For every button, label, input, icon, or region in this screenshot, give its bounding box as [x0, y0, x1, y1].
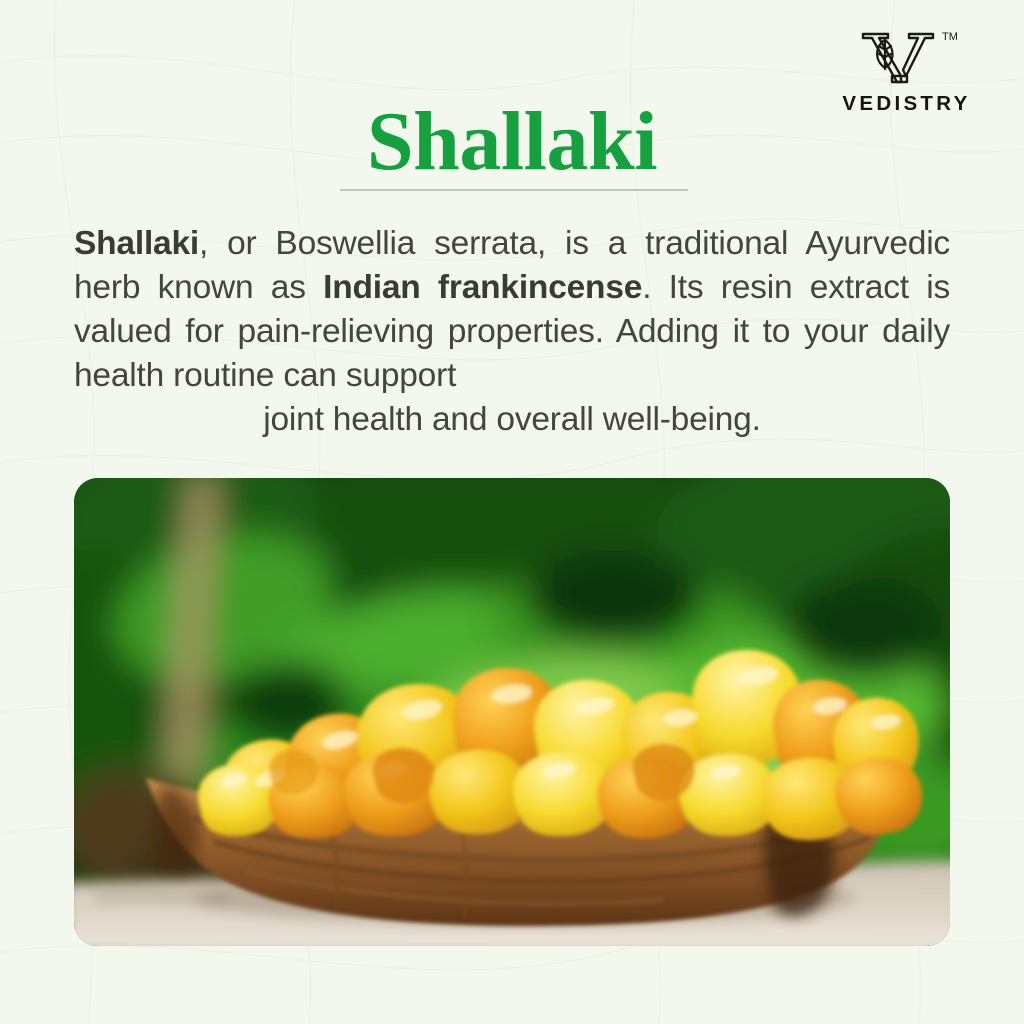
body-last-line: joint health and overall well-being. — [74, 398, 950, 442]
trademark-mark: TM — [942, 31, 958, 43]
hero-photo — [74, 478, 950, 946]
page-title: Shallaki — [0, 96, 1024, 188]
page-title-text: Shallaki — [363, 96, 661, 188]
title-underline — [340, 189, 688, 191]
body-bold-lead: Shallaki — [74, 225, 199, 262]
body-paragraph: Shallaki, or Boswellia serrata, is a tra… — [74, 222, 950, 442]
body-bold-term: Indian frankincense — [323, 269, 642, 306]
body-copy: Shallaki, or Boswellia serrata, is a tra… — [74, 222, 950, 442]
v-leaf-monogram-icon: TM — [820, 24, 990, 88]
poster-canvas: TM VEDISTRY Shallaki Shallaki, or Boswel… — [0, 0, 1024, 1024]
